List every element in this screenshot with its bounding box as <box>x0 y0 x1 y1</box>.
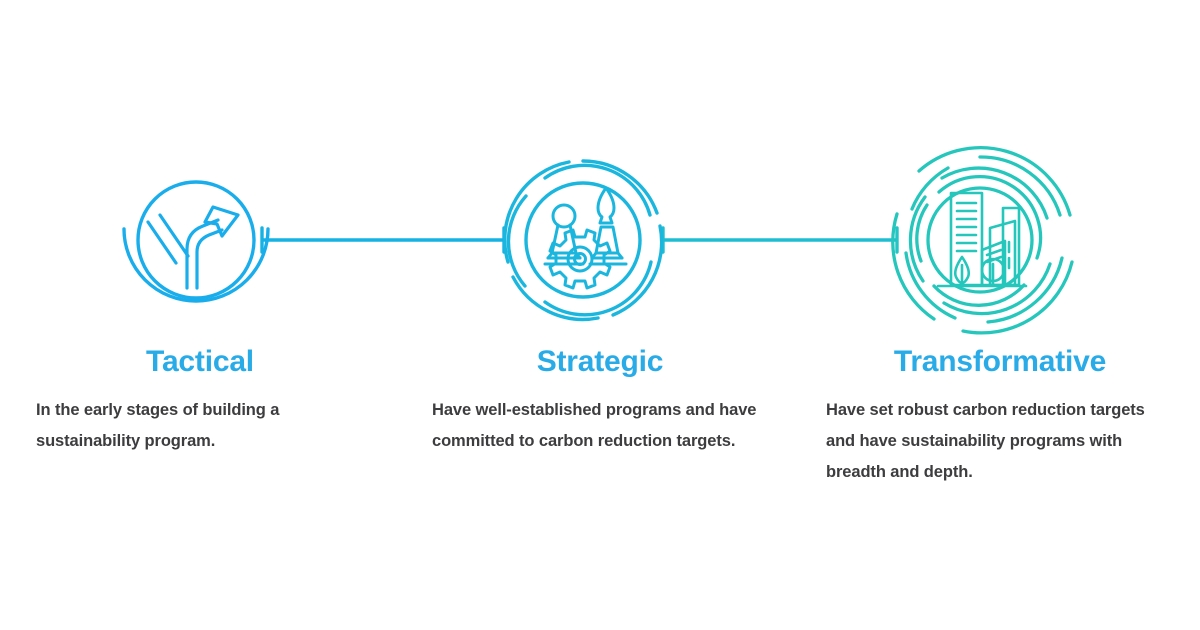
stage-ring-middle <box>508 165 651 314</box>
stage-icon-tactical <box>124 182 268 301</box>
stage-columns: Tactical In the early stages of building… <box>0 345 1200 488</box>
stage-column-strategic: Strategic Have well-established programs… <box>400 345 800 457</box>
stage-heading-transformative: Transformative <box>894 345 1106 379</box>
connector-strategic-transformative <box>662 228 898 252</box>
stage-body-tactical: In the early stages of building a sustai… <box>26 395 374 457</box>
stage-column-transformative: Transformative Have set robust carbon re… <box>800 345 1200 488</box>
stage-heading-tactical: Tactical <box>146 345 254 379</box>
stage-heading-strategic: Strategic <box>537 345 664 379</box>
connector-tactical-strategic <box>261 228 505 252</box>
stage-column-tactical: Tactical In the early stages of building… <box>0 345 400 457</box>
city-buildings-trees-icon <box>938 193 1026 286</box>
stage-body-transformative: Have set robust carbon reduction targets… <box>826 395 1174 488</box>
stage-ring-inner <box>928 188 1032 292</box>
stage-body-strategic: Have well-established programs and have … <box>426 395 774 457</box>
diagram-svg <box>0 0 1200 345</box>
diverging-arrow-icon <box>148 207 238 288</box>
stage-icon-transformative <box>893 148 1072 333</box>
chess-pieces-gear-icon <box>545 188 626 288</box>
diagram-band <box>0 0 1200 345</box>
stage-icon-strategic <box>505 161 662 319</box>
maturity-stages-infographic: Tactical In the early stages of building… <box>0 0 1200 630</box>
